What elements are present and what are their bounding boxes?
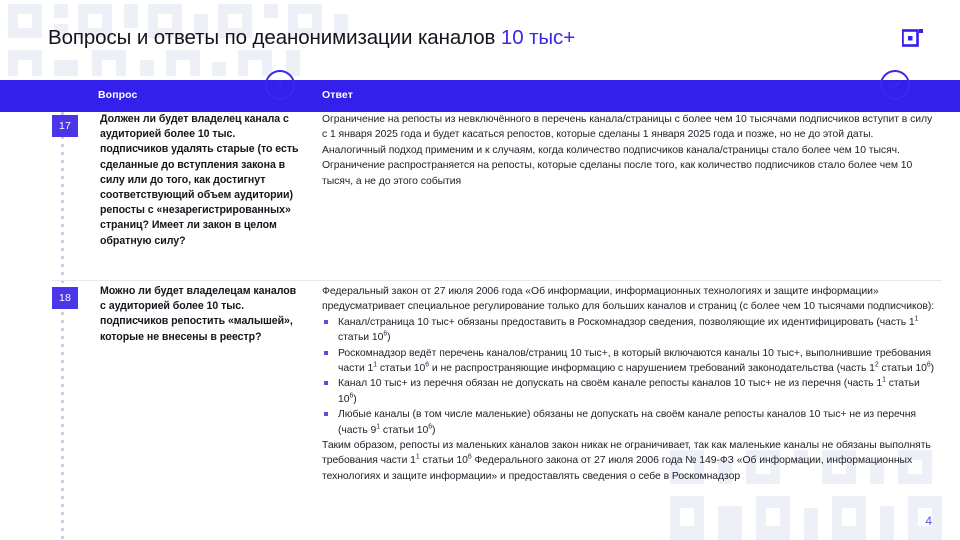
answer-cell: Ограничение на репосты из невключённого … xyxy=(322,112,960,249)
list-item-text: Канал/страница 10 тыс+ обязаны предостав… xyxy=(338,317,918,343)
list-item-text: Любые каналы (в том числе маленькие) обя… xyxy=(338,409,916,435)
list-item-text: Канал 10 тыс+ из перечня обязан не допус… xyxy=(338,378,920,404)
table-header-bar: Вопрос Ответ xyxy=(0,80,960,112)
qa-table-body: 17 Должен ли будет владелец канала с ауд… xyxy=(0,112,960,540)
row-number-cell: 17 xyxy=(0,112,100,249)
bullet-square-icon xyxy=(324,412,328,416)
slide-header: Вопросы и ответы по деанонимизации канал… xyxy=(0,0,960,76)
bullet-square-icon xyxy=(324,381,328,385)
svg-text:?: ? xyxy=(277,80,284,92)
list-item: Роскомнадзор ведёт перечень каналов/стра… xyxy=(322,346,938,377)
list-item: Канал/страница 10 тыс+ обязаны предостав… xyxy=(322,315,938,346)
answer-paragraph: Ограничение на репосты из невключённого … xyxy=(322,112,938,189)
page-title: Вопросы и ответы по деанонимизации канал… xyxy=(48,26,575,50)
answer-bullet-list: Канал/страница 10 тыс+ обязаны предостав… xyxy=(322,315,938,438)
row-separator xyxy=(52,280,942,281)
list-item: Канал 10 тыс+ из перечня обязан не допус… xyxy=(322,376,938,407)
bullet-square-icon xyxy=(324,351,328,355)
question-text: Можно ли будет владелецам каналов с ауди… xyxy=(100,284,304,345)
question-text: Должен ли будет владелец канала с аудито… xyxy=(100,112,304,249)
answer-paragraph: Федеральный закон от 27 июля 2006 года «… xyxy=(322,284,938,315)
answer-text: Федеральный закон от 27 июля 2006 года «… xyxy=(322,284,938,484)
answer-text: Ограничение на репосты из невключённого … xyxy=(322,112,938,189)
answer-closing-paragraph: Таким образом, репосты из маленьких кана… xyxy=(322,438,938,484)
page-title-accent: 10 тыс+ xyxy=(501,26,575,49)
list-item: Любые каналы (в том числе маленькие) обя… xyxy=(322,407,938,438)
bullet-square-icon xyxy=(324,320,328,324)
table-row: 18 Можно ли будет владелецам каналов с а… xyxy=(0,284,960,484)
row-number-badge: 18 xyxy=(52,287,78,309)
table-row: 17 Должен ли будет владелец канала с ауд… xyxy=(0,112,960,249)
question-cell: Можно ли будет владелецам каналов с ауди… xyxy=(100,284,322,484)
column-header-question: Вопрос xyxy=(98,89,137,101)
column-header-answer: Ответ xyxy=(322,89,353,101)
answer-cell: Федеральный закон от 27 июля 2006 года «… xyxy=(322,284,960,484)
question-cell: Должен ли будет владелец канала с аудито… xyxy=(100,112,322,249)
page-number: 4 xyxy=(925,514,932,528)
row-number-cell: 18 xyxy=(0,284,100,484)
row-number-badge: 17 xyxy=(52,115,78,137)
list-item-text: Роскомнадзор ведёт перечень каналов/стра… xyxy=(338,348,934,374)
page-title-main: Вопросы и ответы по деанонимизации канал… xyxy=(48,26,501,49)
